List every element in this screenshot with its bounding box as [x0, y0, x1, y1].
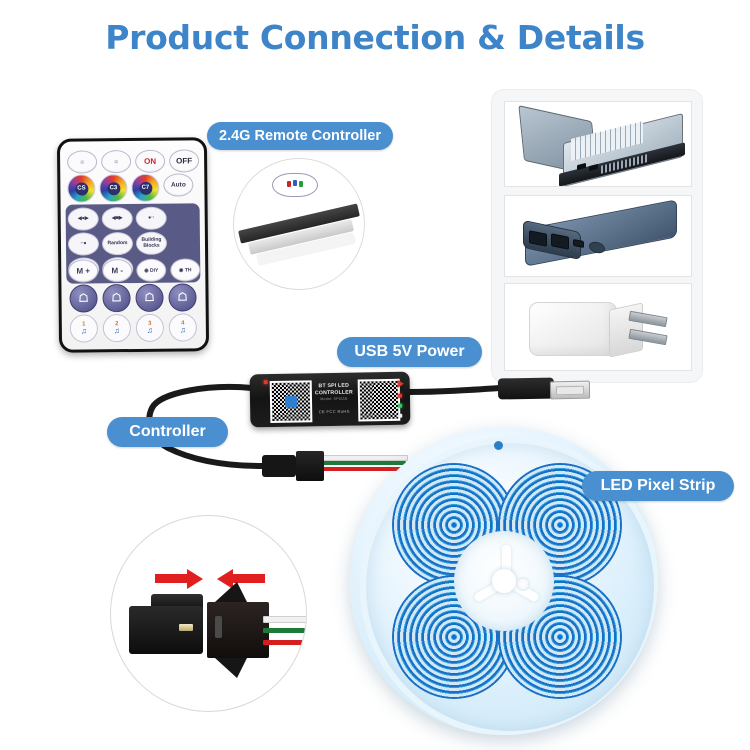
qr-center-chip-icon: [285, 396, 297, 408]
status-led-green: [398, 404, 402, 408]
connector-female-slot: [215, 616, 222, 638]
status-led-red: [398, 394, 402, 398]
detail-wire-white: [263, 616, 307, 623]
qr-code-right-icon: [358, 379, 401, 422]
connector-female-wing: [215, 658, 247, 678]
usb-power-cable: [408, 388, 500, 392]
usb-a-tongue: [556, 386, 584, 395]
controller-cert-line: CE FCC RoHS: [311, 409, 357, 415]
controller-brand-text: BT SPI LED CONTROLLER Model: SP611E: [311, 383, 357, 403]
status-led-arrow-icon: [398, 380, 404, 388]
qr-code-left-icon: [270, 380, 313, 423]
connector-male-pin-icon: [179, 624, 193, 631]
reel-hub-hole: [516, 577, 530, 591]
jst-male-connector: [262, 455, 296, 477]
infographic-canvas: Product Connection & Details: [0, 0, 750, 750]
led-controller-module[interactable]: BT SPI LED CONTROLLER Model: SP611E CE F…: [250, 372, 411, 428]
controller-model-line: Model: SP611E: [311, 397, 357, 403]
jst-female-connector: [296, 451, 324, 481]
detail-wire-red: [263, 640, 305, 645]
label-remote-controller: 2.4G Remote Controller: [207, 122, 393, 150]
reel-hub-center: [492, 569, 516, 593]
usb-a-connector-icon: [550, 381, 590, 400]
status-led-red: [264, 380, 268, 384]
reel-hub: [454, 531, 554, 631]
jst-connector-detail-circle: [110, 515, 307, 712]
label-usb-5v-power: USB 5V Power: [337, 337, 482, 367]
detail-wire-green: [263, 628, 305, 633]
reel-strip-start-marker: [494, 441, 503, 450]
usb-cable-overmold: [498, 378, 554, 400]
connector-female-wing: [215, 582, 247, 602]
label-led-pixel-strip: LED Pixel Strip: [582, 471, 734, 501]
label-controller: Controller: [107, 417, 228, 447]
status-led-white: [398, 414, 402, 418]
